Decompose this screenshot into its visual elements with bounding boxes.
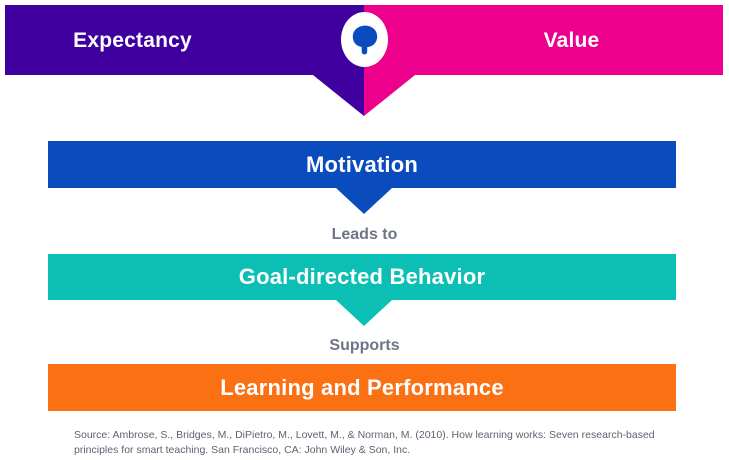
connector-label-leads-to: Leads to bbox=[0, 227, 729, 243]
arrow-goal-to-learning bbox=[336, 300, 392, 326]
pearson-logo-badge bbox=[341, 12, 388, 67]
source-citation-line-1: Source: Ambrose, S., Bridges, M., DiPiet… bbox=[74, 429, 655, 441]
source-citation: Source: Ambrose, S., Bridges, M., DiPiet… bbox=[74, 428, 674, 458]
header-arrow-down bbox=[313, 75, 415, 116]
header-expectancy-label: Expectancy bbox=[73, 30, 192, 51]
stage-label-goal-directed-behavior: Goal-directed Behavior bbox=[239, 266, 485, 288]
arrow-motivation-to-goal bbox=[336, 188, 392, 214]
connector-label-supports: Supports bbox=[0, 338, 729, 354]
source-citation-line-2: principles for smart teaching. San Franc… bbox=[74, 444, 410, 456]
header-value-panel: Value bbox=[364, 5, 723, 75]
header-arrow-right-half bbox=[364, 75, 415, 116]
stage-bar-goal-directed-behavior: Goal-directed Behavior bbox=[48, 254, 676, 300]
header-expectancy-panel: Expectancy bbox=[5, 5, 364, 75]
diagram-canvas: Expectancy Value Motivation Leads to Goa… bbox=[0, 0, 729, 460]
header-value-label: Value bbox=[544, 30, 600, 51]
stage-bar-learning-and-performance: Learning and Performance bbox=[48, 364, 676, 411]
pearson-interrobang-logo-icon bbox=[352, 25, 378, 55]
stage-bar-motivation: Motivation bbox=[48, 141, 676, 188]
stage-label-motivation: Motivation bbox=[306, 154, 418, 176]
stage-label-learning-and-performance: Learning and Performance bbox=[220, 377, 504, 399]
header-arrow-left-half bbox=[313, 75, 364, 116]
